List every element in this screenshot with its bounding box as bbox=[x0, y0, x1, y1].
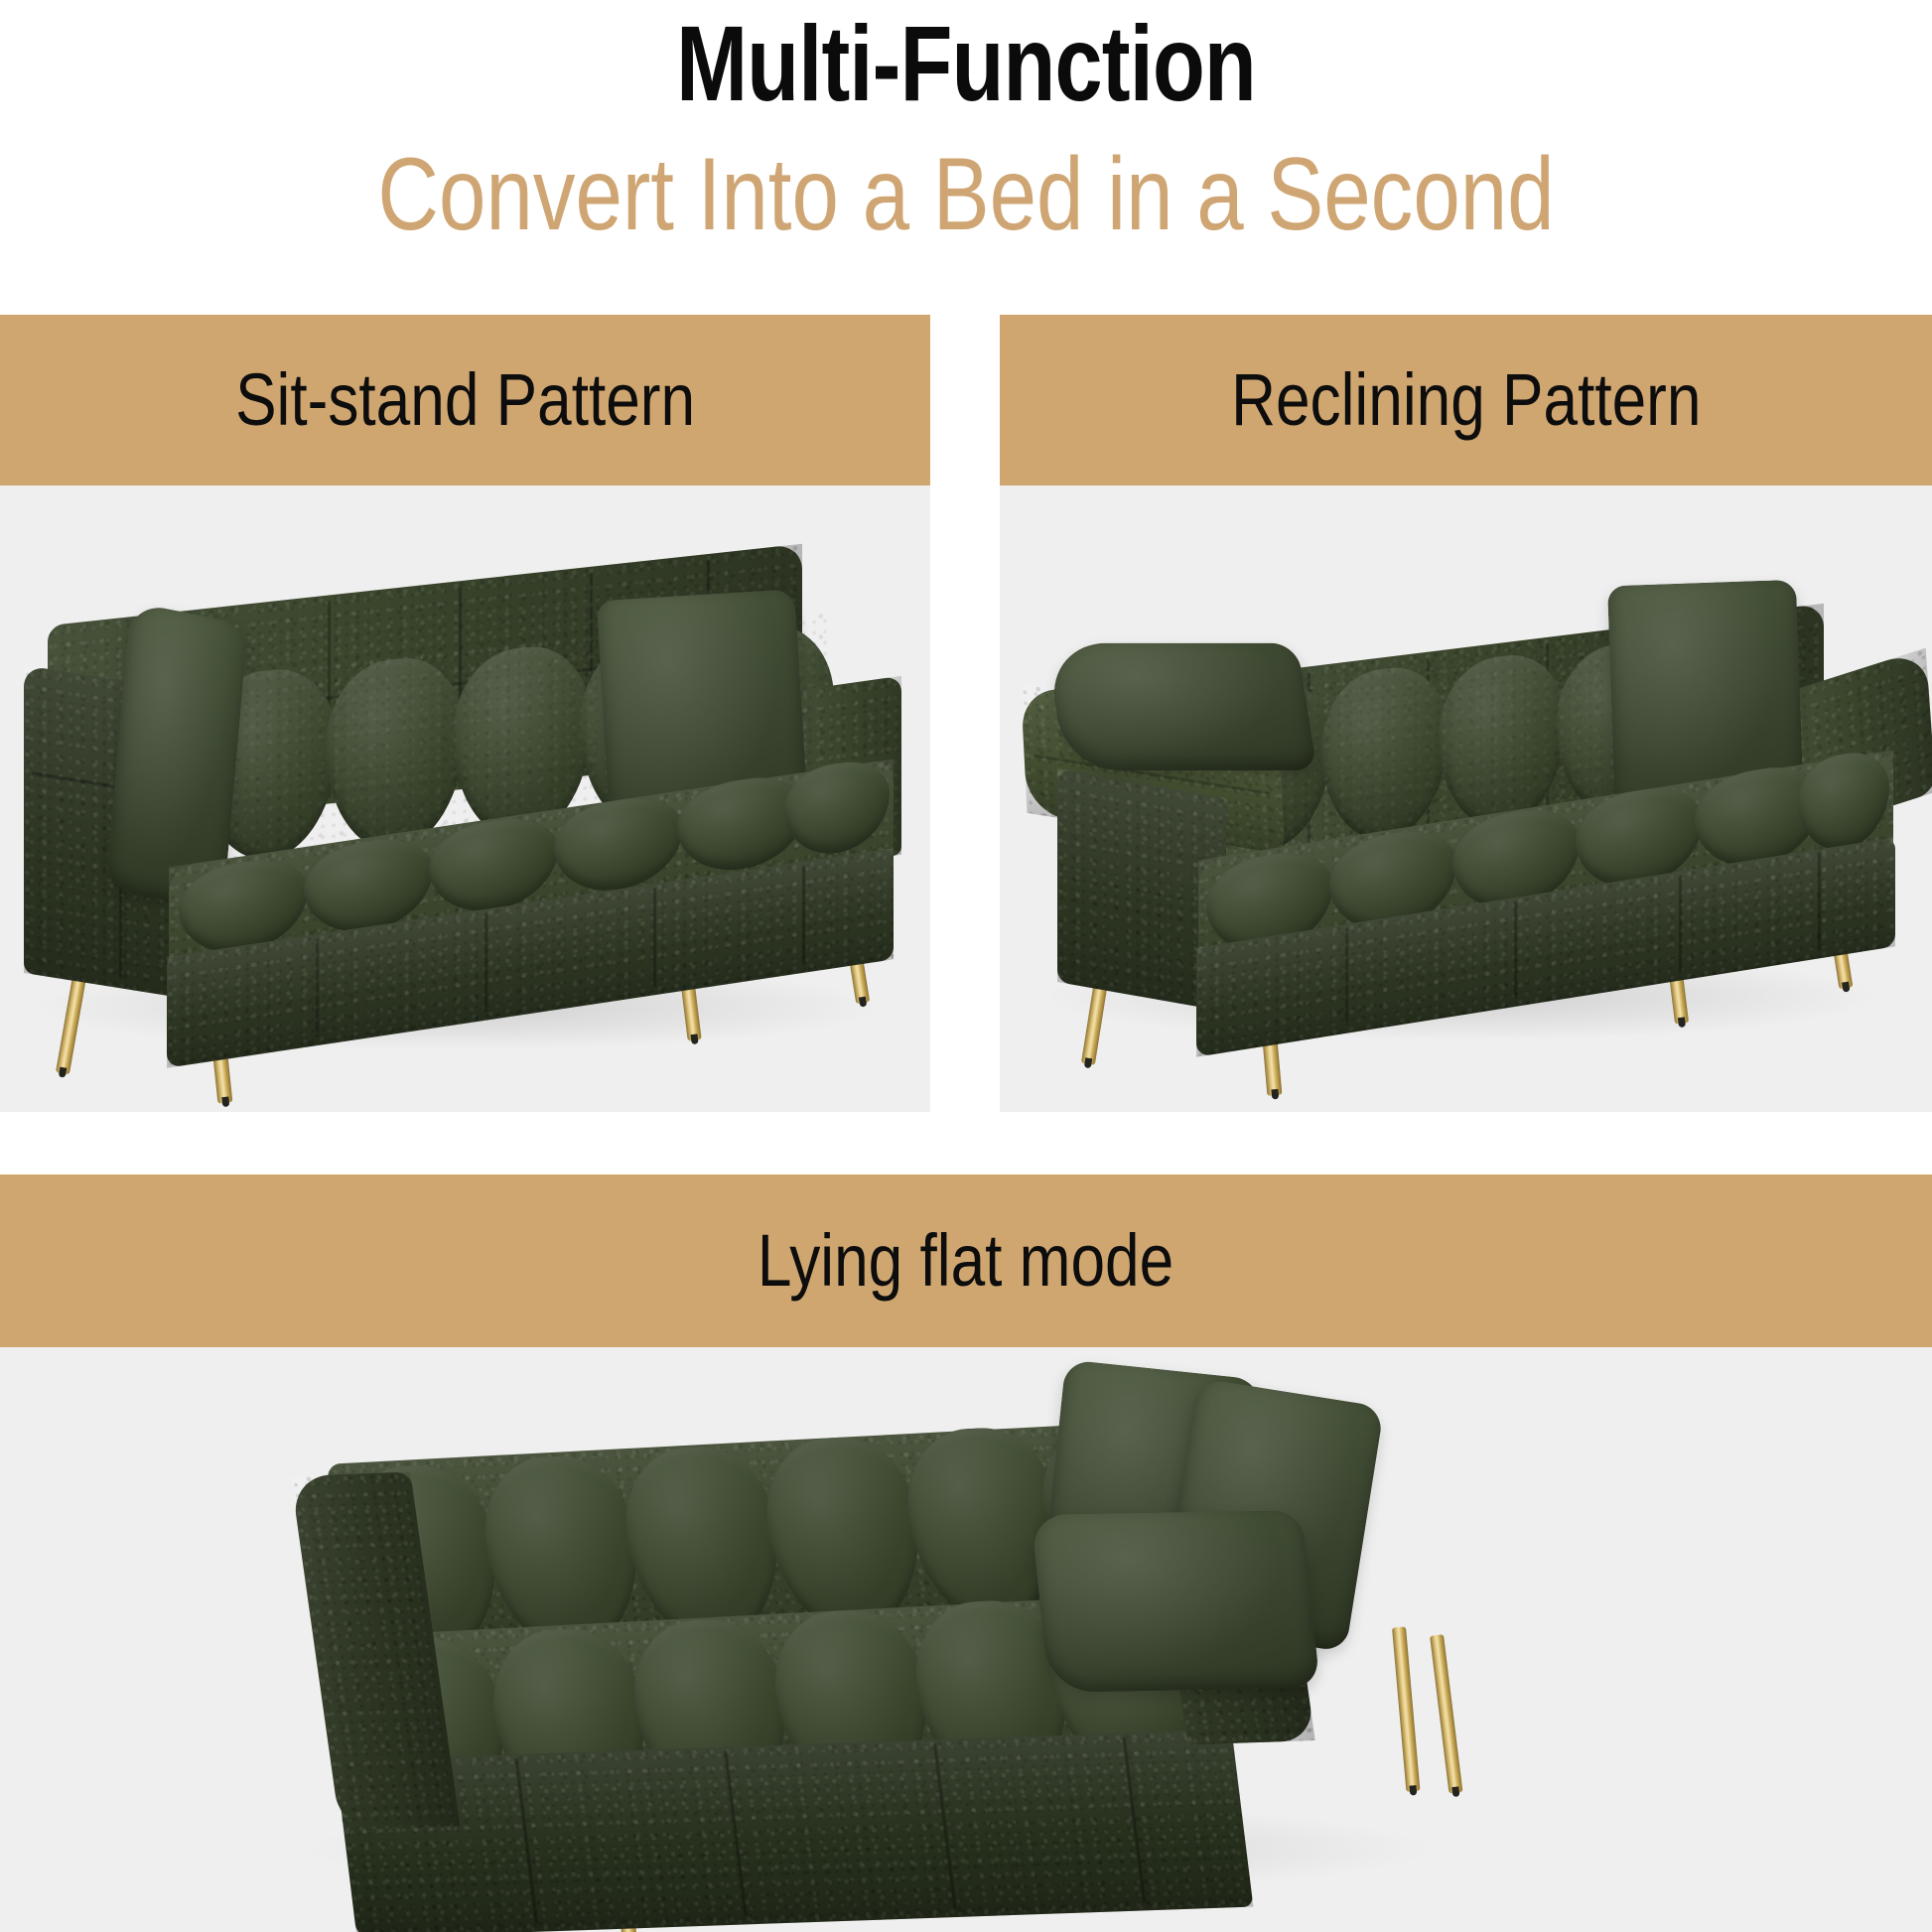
label-text-lying-flat: Lying flat mode bbox=[758, 1224, 1173, 1298]
throw-pillow-front bbox=[1031, 1510, 1320, 1693]
sofa-leg bbox=[1392, 1626, 1420, 1792]
bed-side-apron bbox=[336, 1729, 1254, 1932]
product-photo-lying-flat bbox=[0, 1347, 1932, 1932]
sofa-leg bbox=[1430, 1634, 1462, 1794]
throw-pillow-left bbox=[1045, 643, 1316, 770]
label-text-reclining: Reclining Pattern bbox=[1231, 363, 1701, 437]
label-bar-lying-flat: Lying flat mode bbox=[0, 1174, 1932, 1347]
page-title: Multi-Function bbox=[194, 10, 1739, 117]
infographic-page: Multi-Function Convert Into a Bed in a S… bbox=[0, 0, 1932, 1932]
product-photo-reclining bbox=[1000, 485, 1932, 1112]
label-bar-sit-stand: Sit-stand Pattern bbox=[0, 315, 930, 485]
header: Multi-Function Convert Into a Bed in a S… bbox=[0, 0, 1932, 298]
page-subtitle: Convert Into a Bed in a Second bbox=[174, 141, 1758, 248]
label-bar-reclining: Reclining Pattern bbox=[1000, 315, 1932, 485]
product-photo-sit-stand bbox=[0, 485, 930, 1112]
label-text-sit-stand: Sit-stand Pattern bbox=[235, 363, 695, 437]
